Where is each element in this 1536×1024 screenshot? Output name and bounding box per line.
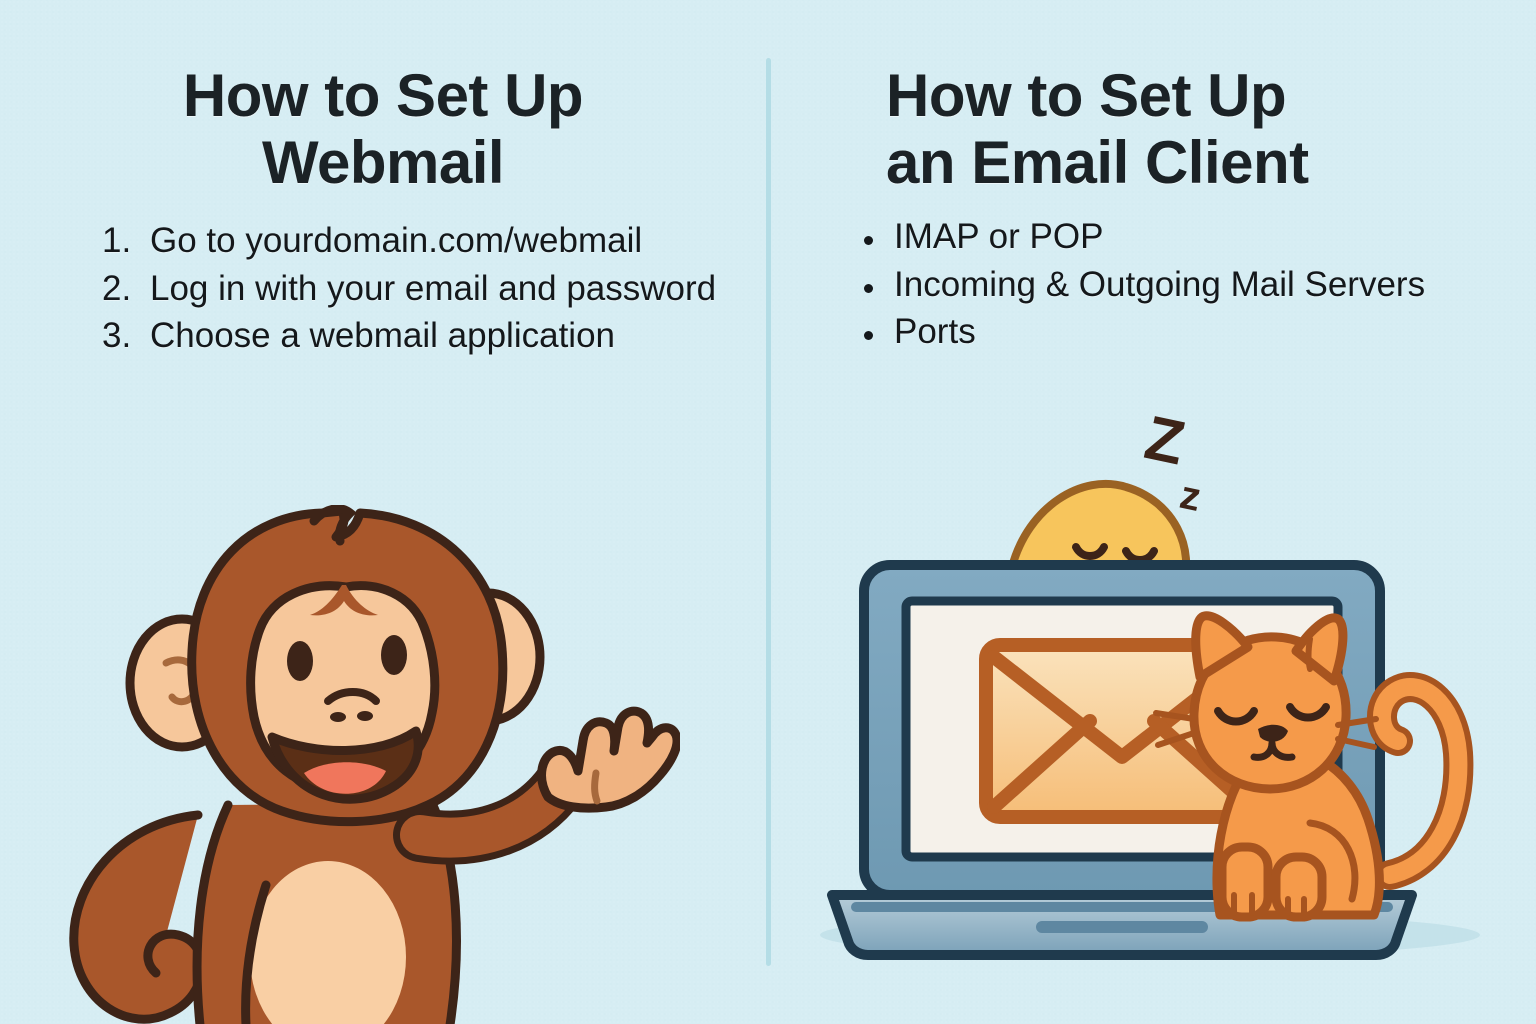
monkey-eye-left — [287, 641, 313, 681]
right-column: How to Set Up an Email Client IMAP or PO… — [800, 0, 1512, 357]
list-item: Incoming & Outgoing Mail Servers — [860, 262, 1512, 308]
bullet-text: IMAP or POP — [894, 217, 1103, 256]
list-item: 3. Choose a webmail application — [102, 313, 742, 359]
infographic-canvas: How to Set Up Webmail 1. Go to yourdomai… — [0, 0, 1536, 1024]
step-text: Log in with your email and password — [150, 269, 716, 308]
bullet-text: Incoming & Outgoing Mail Servers — [894, 265, 1425, 304]
sleep-z-small: z — [1176, 473, 1205, 520]
right-title-line-2: an Email Client — [886, 129, 1309, 196]
list-item: 1. Go to yourdomain.com/webmail — [102, 218, 742, 264]
left-title-line-2: Webmail — [262, 129, 504, 196]
left-title-line-1: How to Set Up — [183, 62, 583, 129]
right-title-line-1: How to Set Up — [886, 62, 1286, 129]
monkey-eye-right — [381, 635, 407, 675]
cat-leg-left — [1222, 847, 1268, 917]
bullet-dot-icon — [864, 236, 873, 245]
email-client-illustration: Z z — [790, 395, 1510, 980]
sleep-z-large: Z — [1139, 403, 1190, 478]
bullet-dot-icon — [864, 284, 873, 293]
webmail-steps-list: 1. Go to yourdomain.com/webmail 2. Log i… — [24, 218, 742, 359]
email-client-bullets-list: IMAP or POP Incoming & Outgoing Mail Ser… — [800, 214, 1512, 355]
list-item: 2. Log in with your email and password — [102, 266, 742, 312]
list-item: Ports — [860, 309, 1512, 355]
monkey-tail — [74, 815, 202, 1019]
waving-monkey-illustration: .mo { fill:none; stroke:#3d2418; stroke-… — [60, 505, 680, 1024]
bullet-text: Ports — [894, 312, 976, 351]
left-column: How to Set Up Webmail 1. Go to yourdomai… — [24, 0, 742, 361]
step-text: Go to yourdomain.com/webmail — [150, 221, 642, 260]
right-panel-title: How to Set Up an Email Client — [800, 0, 1512, 196]
monkey-waving-hand — [542, 711, 677, 808]
column-divider — [766, 58, 771, 966]
step-number: 3. — [102, 313, 144, 359]
list-item: IMAP or POP — [860, 214, 1512, 260]
step-text: Choose a webmail application — [150, 316, 615, 355]
step-number: 2. — [102, 266, 144, 312]
cat-leg-right — [1276, 857, 1322, 917]
left-panel-title: How to Set Up Webmail — [24, 0, 742, 196]
step-number: 1. — [102, 218, 144, 264]
bullet-dot-icon — [864, 331, 873, 340]
